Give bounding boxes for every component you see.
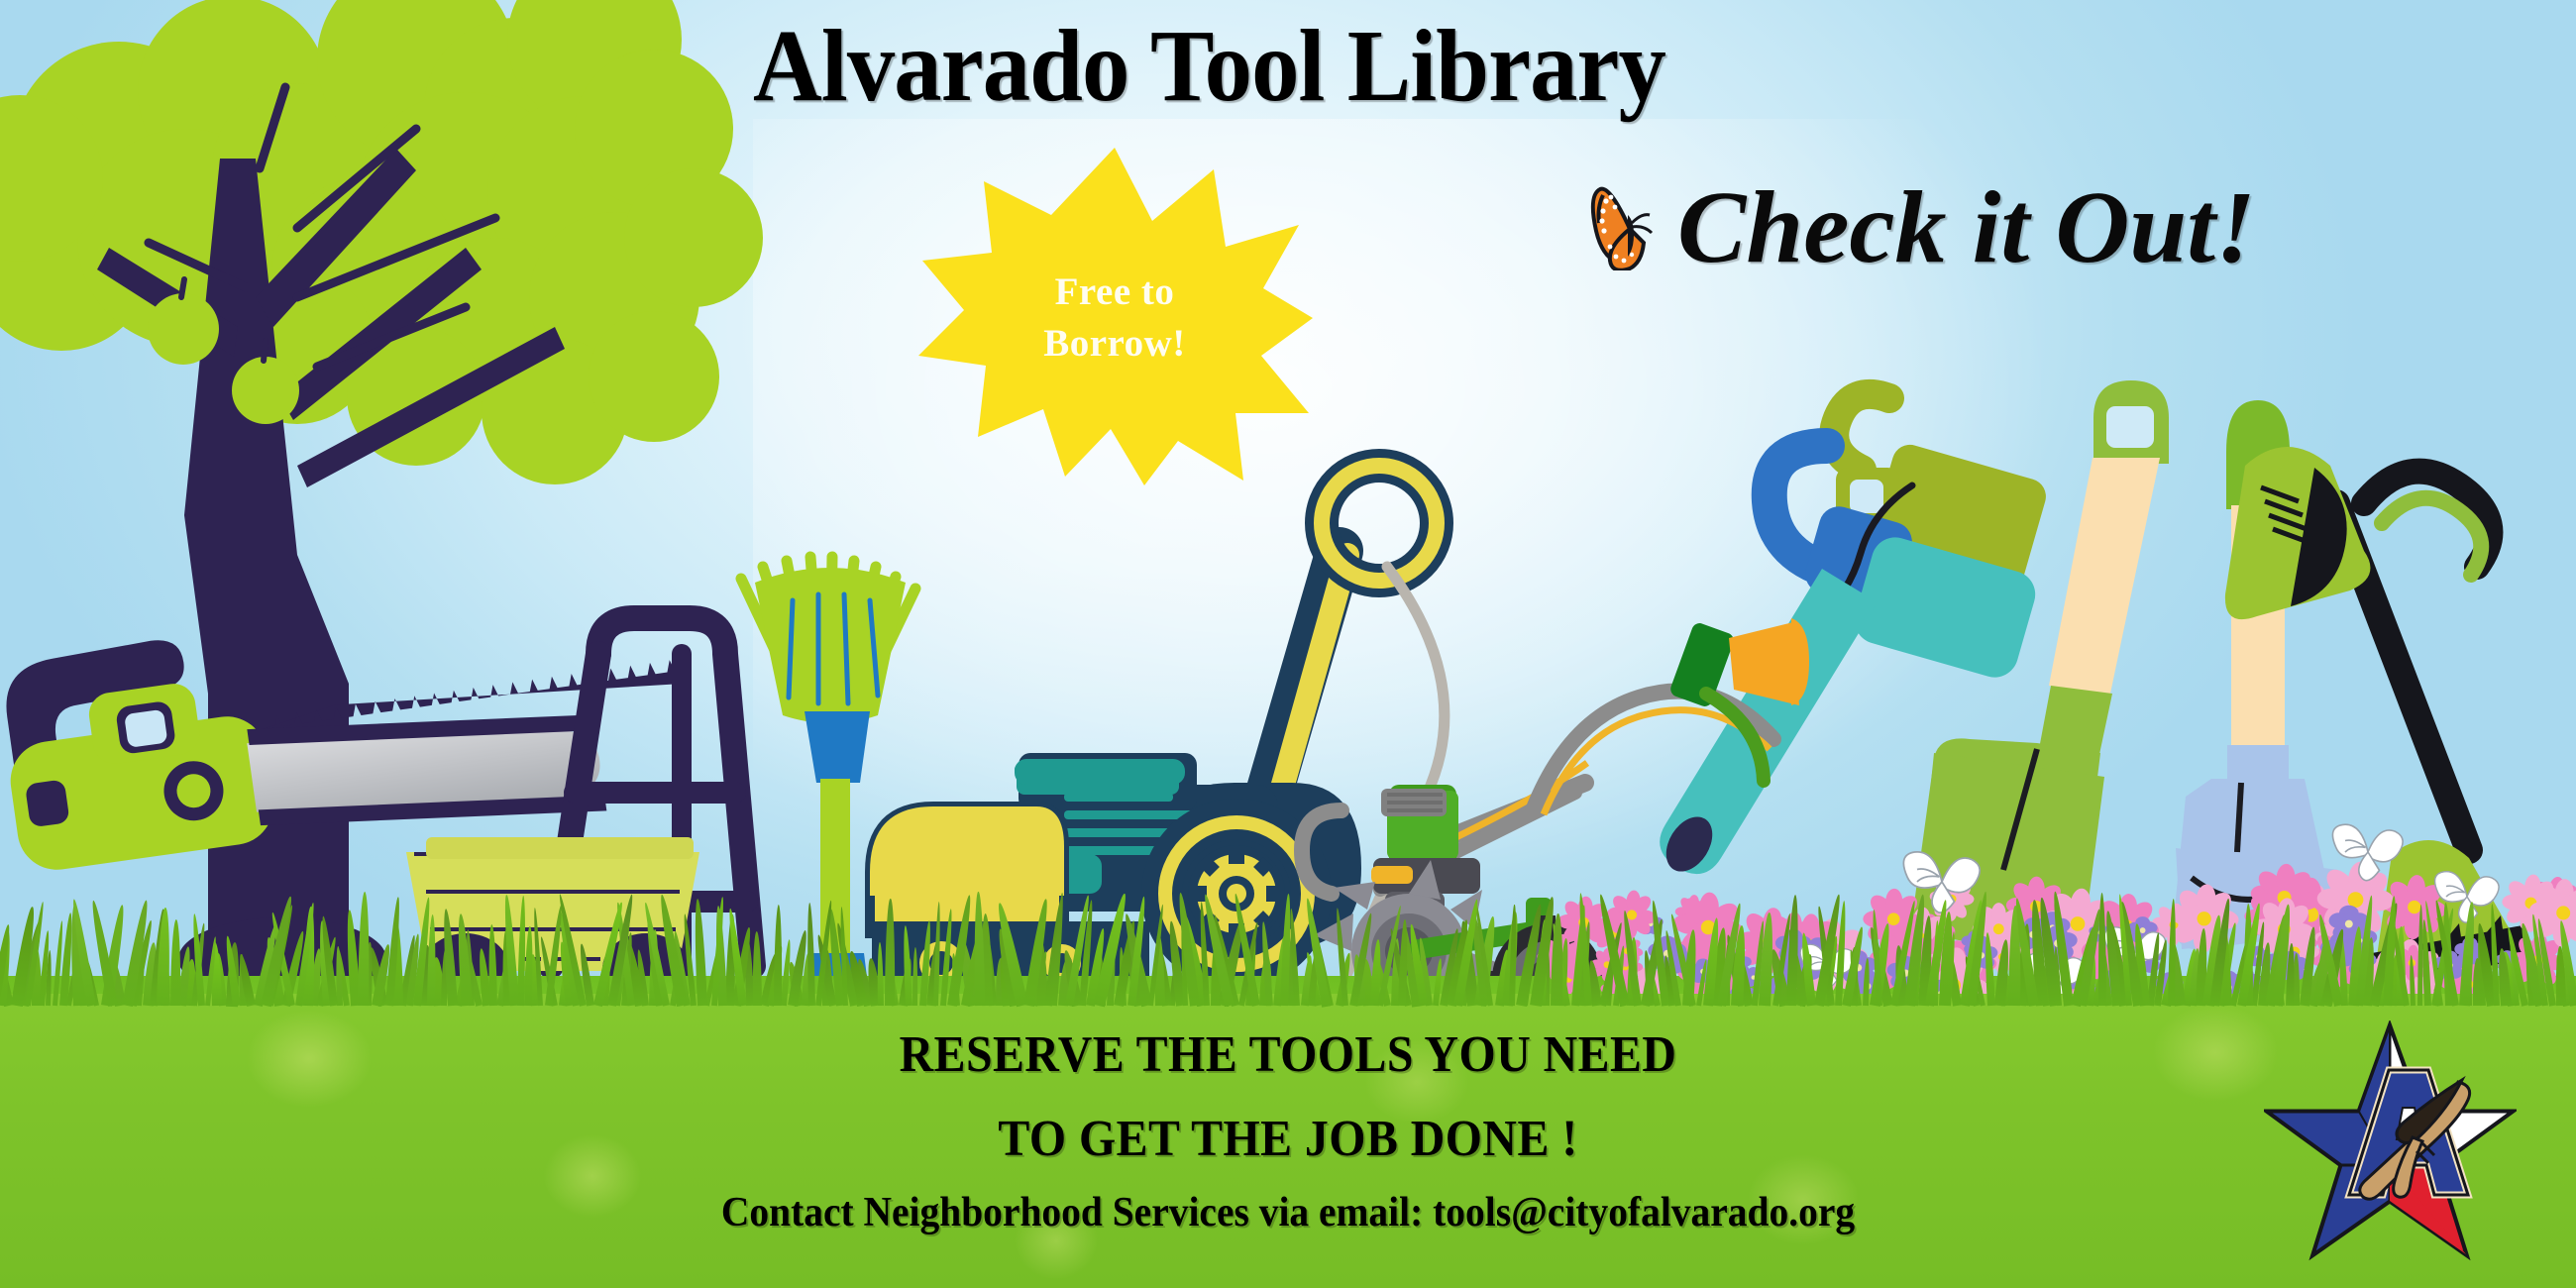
monarch-butterfly-icon — [1590, 185, 1671, 270]
tool-library-banner: Free to Borrow! Alvarado Tool Library — [0, 0, 2576, 1288]
white-butterfly — [2332, 824, 2403, 880]
city-of-alvarado-logo — [2264, 1020, 2517, 1268]
page-title: Alvarado Tool Library — [753, 12, 2191, 120]
cta-line-1: RESERVE THE TOOLS YOU NEED — [103, 1025, 2473, 1084]
free-to-borrow-badge: Free to Borrow! — [916, 144, 1313, 485]
badge-line-2: Borrow! — [1043, 318, 1186, 369]
badge-text: Free to Borrow! — [916, 144, 1313, 485]
headline-row: Check it Out! — [1590, 176, 2256, 279]
contact-line: Contact Neighborhood Services via email:… — [77, 1189, 2499, 1236]
cta-line-2: TO GET THE JOB DONE ! — [103, 1110, 2473, 1168]
headline-text: Check it Out! — [1677, 176, 2256, 279]
badge-line-1: Free to — [1055, 267, 1175, 317]
